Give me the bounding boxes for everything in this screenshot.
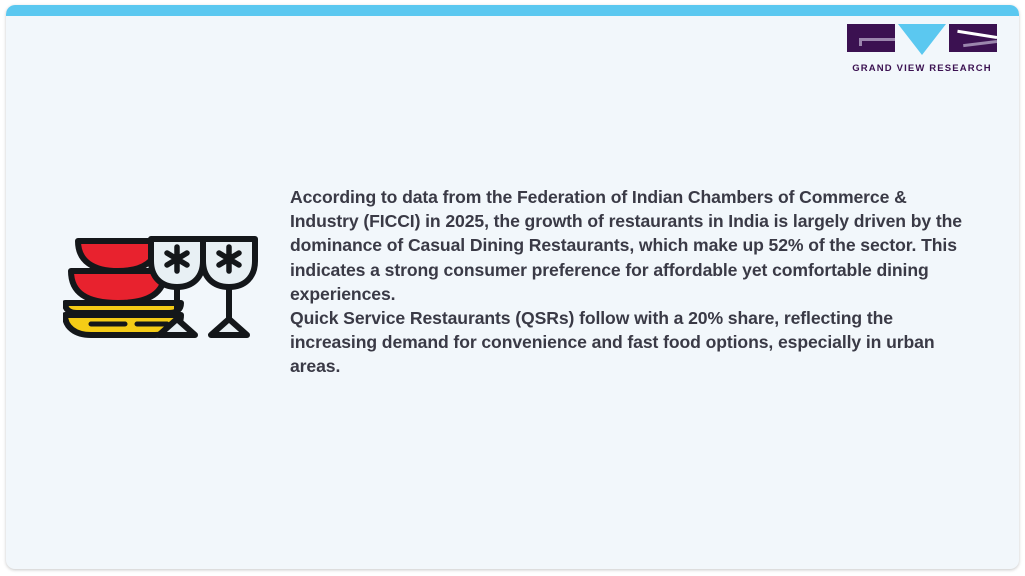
logo-wordmark: GRAND VIEW RESEARCH xyxy=(847,63,997,74)
accent-top-bar xyxy=(6,5,1019,16)
insight-text-block: According to data from the Federation of… xyxy=(290,185,980,379)
logo-v-triangle-icon xyxy=(898,24,946,55)
brand-logo: GRAND VIEW RESEARCH xyxy=(847,24,997,74)
logo-r-mark-icon xyxy=(949,24,997,52)
logo-marks xyxy=(847,24,997,56)
insight-card: GRAND VIEW RESEARCH xyxy=(6,5,1019,569)
logo-g-mark-icon xyxy=(847,24,895,52)
insight-paragraph-1: According to data from the Federation of… xyxy=(290,185,980,306)
dining-illustration-icon xyxy=(63,223,263,338)
insight-paragraph-2: Quick Service Restaurants (QSRs) follow … xyxy=(290,306,980,379)
